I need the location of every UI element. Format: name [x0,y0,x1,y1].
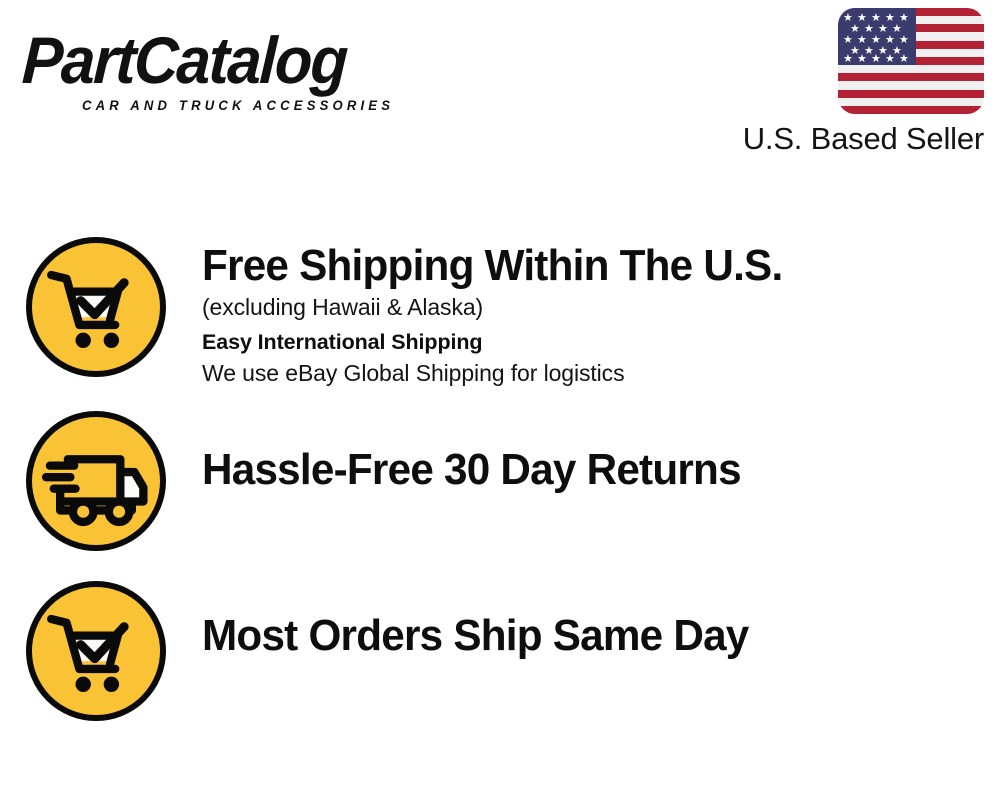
feature-text: Free Shipping Within The U.S. (excluding… [192,215,1000,389]
feature-icon-wrapper [0,559,192,721]
us-based-seller-badge: ★ ★ ★ ★ ★ ★ ★ ★ ★ ★ ★ ★ ★ ★ ★ ★ ★ ★ ★ ★ … [714,8,986,157]
feature-text: Most Orders Ship Same Day [192,559,1000,661]
brand-wordmark: PartCatalog [21,26,461,94]
shopping-cart-check-icon [26,581,166,721]
feature-icon-wrapper [0,387,192,551]
brand-logo[interactable]: PartCatalog CAR AND TRUCK ACCESSORIES [24,26,494,116]
feature-row: Hassle-Free 30 Day Returns [0,387,1000,559]
us-flag-icon: ★ ★ ★ ★ ★ ★ ★ ★ ★ ★ ★ ★ ★ ★ ★ ★ ★ ★ ★ ★ … [838,8,984,114]
feature-title: Most Orders Ship Same Day [202,611,968,661]
feature-icon-wrapper [0,215,192,377]
seller-badge-label: U.S. Based Seller [714,121,984,157]
page-header: PartCatalog CAR AND TRUCK ACCESSORIES ★ … [0,0,1000,175]
shopping-cart-check-icon [26,237,166,377]
feature-list: Free Shipping Within The U.S. (excluding… [0,215,1000,729]
feature-subtitle-strong: Easy International Shipping [202,327,1000,357]
feature-subtitle: (excluding Hawaii & Alaska) [202,291,1000,323]
feature-text: Hassle-Free 30 Day Returns [192,387,1000,495]
feature-title: Hassle-Free 30 Day Returns [202,445,968,495]
delivery-truck-icon [26,411,166,551]
brand-tagline: CAR AND TRUCK ACCESSORIES [82,98,394,113]
feature-row: Most Orders Ship Same Day [0,559,1000,729]
feature-title: Free Shipping Within The U.S. [202,241,968,291]
feature-subtitle-secondary: We use eBay Global Shipping for logistic… [202,357,1000,389]
feature-row: Free Shipping Within The U.S. (excluding… [0,215,1000,387]
